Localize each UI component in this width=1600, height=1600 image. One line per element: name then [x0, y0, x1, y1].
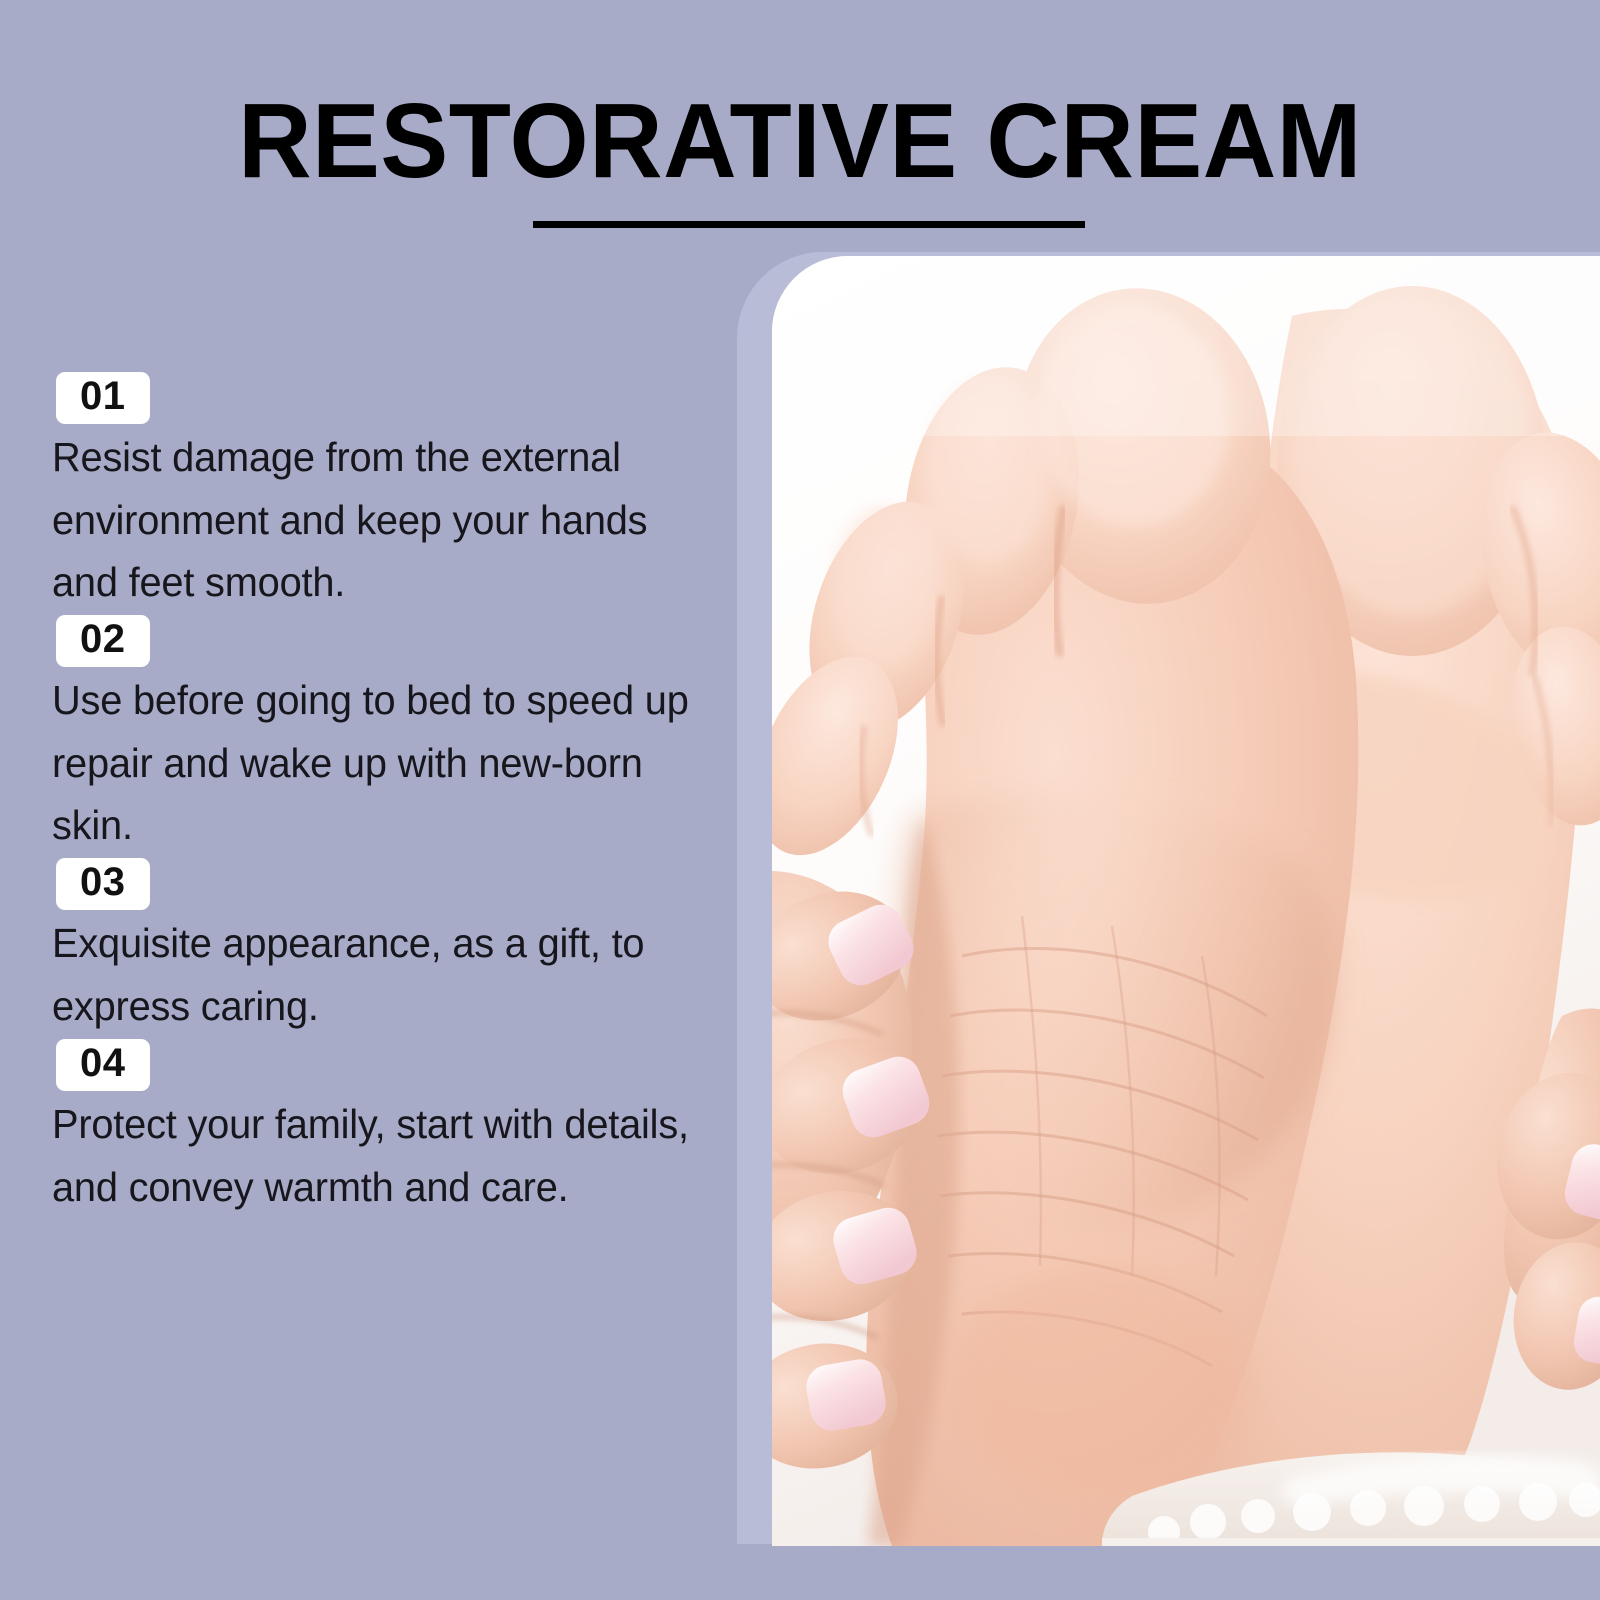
photo-frame: [772, 256, 1600, 1546]
feature-number-badge: 03: [56, 858, 150, 910]
feature-item: 02 Use before going to bed to speed up r…: [52, 615, 712, 856]
title-underline-rule: [533, 221, 1085, 228]
feature-item: 01 Resist damage from the external envir…: [52, 372, 712, 613]
feature-description: Exquisite appearance, as a gift, to expr…: [52, 912, 692, 1037]
product-feature-poster: RESTORATIVE CREAM 01 Resist damage from …: [0, 0, 1600, 1600]
feature-number-badge: 01: [56, 372, 150, 424]
feature-description: Use before going to bed to speed up repa…: [52, 669, 692, 856]
feature-description: Protect your family, start with details,…: [52, 1093, 692, 1218]
feature-item: 03 Exquisite appearance, as a gift, to e…: [52, 858, 712, 1037]
feature-item: 04 Protect your family, start with detai…: [52, 1039, 712, 1218]
feature-list: 01 Resist damage from the external envir…: [52, 372, 712, 1220]
feature-description: Resist damage from the external environm…: [52, 426, 692, 613]
bare-feet-closeup-photo: [772, 256, 1600, 1546]
page-title: RESTORATIVE CREAM: [32, 88, 1568, 194]
feature-number-badge: 02: [56, 615, 150, 667]
feature-number-badge: 04: [56, 1039, 150, 1091]
